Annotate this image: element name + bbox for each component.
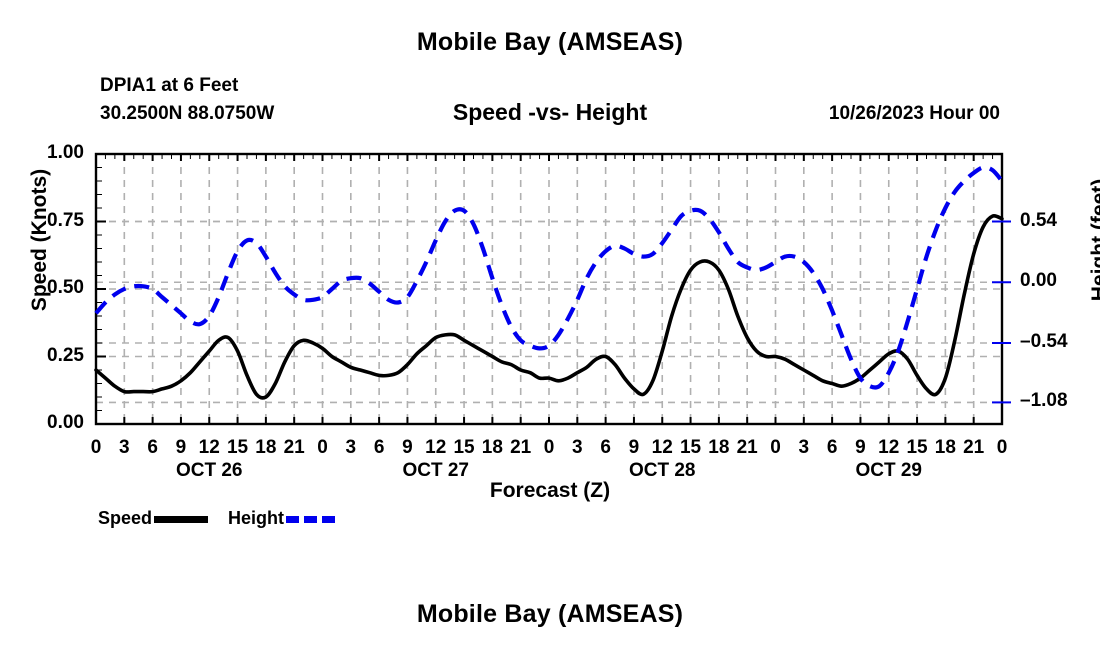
x-tick-label: 12	[421, 437, 451, 459]
page-title-bottom: Mobile Bay (AMSEAS)	[0, 600, 1100, 629]
x-tick-label: 9	[166, 437, 196, 459]
x-tick-label: 0	[308, 437, 338, 459]
x-tick-label: 15	[902, 437, 932, 459]
x-tick-label: 21	[279, 437, 309, 459]
x-tick-label: 21	[959, 437, 989, 459]
x-tick-label: 9	[392, 437, 422, 459]
x-tick-label: 3	[109, 437, 139, 459]
y-tick-label-left: 0.50	[14, 277, 84, 299]
x-tick-label: 18	[704, 437, 734, 459]
chart-plot-area	[0, 0, 1100, 650]
series-line-speed	[96, 216, 1002, 398]
x-tick-label: 6	[591, 437, 621, 459]
x-tick-label: 6	[138, 437, 168, 459]
x-tick-label: 9	[619, 437, 649, 459]
legend-swatch-height	[286, 516, 340, 523]
y-tick-label-left: 0.00	[14, 412, 84, 434]
chart-page: Mobile Bay (AMSEAS) DPIA1 at 6 Feet 30.2…	[0, 0, 1100, 650]
x-tick-label: 12	[647, 437, 677, 459]
x-tick-label: 18	[251, 437, 281, 459]
x-tick-label: 15	[676, 437, 706, 459]
y-tick-label-right: 0.54	[1020, 210, 1100, 232]
x-tick-label: 0	[987, 437, 1017, 459]
x-tick-label: 12	[194, 437, 224, 459]
y-tick-label-right: 0.00	[1020, 270, 1100, 292]
x-axis-day-label: OCT 26	[149, 460, 269, 482]
legend-item: Speed	[98, 505, 208, 531]
x-tick-label: 12	[874, 437, 904, 459]
x-tick-label: 21	[506, 437, 536, 459]
y-tick-label-left: 1.00	[14, 142, 84, 164]
x-tick-label: 0	[534, 437, 564, 459]
x-tick-label: 15	[449, 437, 479, 459]
x-tick-label: 0	[81, 437, 111, 459]
y-tick-label-right: –0.54	[1020, 331, 1100, 353]
x-tick-label: 3	[336, 437, 366, 459]
x-tick-label: 0	[761, 437, 791, 459]
x-tick-label: 6	[817, 437, 847, 459]
y-tick-label-right: –1.08	[1020, 390, 1100, 412]
x-axis-day-label: OCT 29	[829, 460, 949, 482]
x-axis-day-label: OCT 27	[376, 460, 496, 482]
x-axis-day-label: OCT 28	[602, 460, 722, 482]
y-tick-label-left: 0.25	[14, 345, 84, 367]
x-tick-label: 9	[845, 437, 875, 459]
legend-swatch-speed	[154, 516, 208, 523]
x-tick-label: 15	[223, 437, 253, 459]
legend-label: Height	[228, 508, 284, 528]
x-tick-label: 6	[364, 437, 394, 459]
x-tick-label: 21	[732, 437, 762, 459]
y-tick-label-left: 0.75	[14, 210, 84, 232]
x-tick-label: 18	[477, 437, 507, 459]
x-tick-label: 3	[562, 437, 592, 459]
x-tick-label: 18	[930, 437, 960, 459]
legend-item: Height	[228, 505, 340, 531]
legend-label: Speed	[98, 508, 152, 528]
x-tick-label: 3	[789, 437, 819, 459]
